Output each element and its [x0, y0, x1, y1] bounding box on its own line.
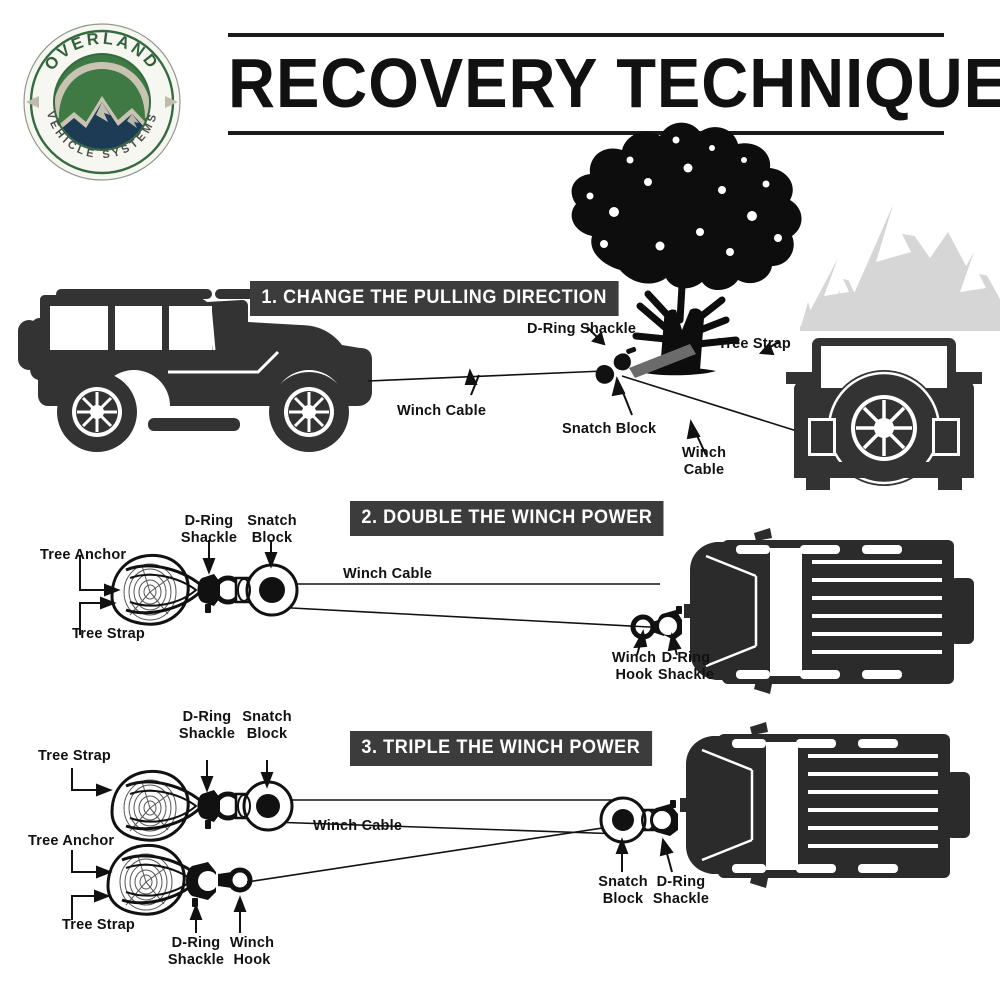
- label-d-ring-shackle-vehicle-s3: D-Ring Shackle: [650, 874, 712, 908]
- d-ring-shackle-upper-section-3: [198, 790, 241, 829]
- label-d-ring-shackle-lower-s3: D-Ring Shackle: [165, 935, 227, 969]
- jeep-rear-view: [786, 338, 982, 490]
- snatch-block-upper-section-3: [236, 782, 292, 830]
- label-tree-strap-s1: Tree Strap: [718, 336, 791, 353]
- label-winch-cable-left-s1: Winch Cable: [397, 403, 486, 420]
- d-ring-shackle-vehicle-section-2: [658, 606, 683, 640]
- label-snatch-block-vehicle-s3: Snatch Block: [596, 874, 650, 908]
- jeep-side-wheel-front: [269, 372, 349, 452]
- label-snatch-block-upper-s3: Snatch Block: [240, 709, 294, 743]
- label-d-ring-shackle-s2: D-Ring Shackle: [178, 513, 240, 547]
- tree-anchor-section-2: [112, 555, 204, 624]
- snatch-block-section-1: [596, 365, 614, 384]
- overland-vehicle-systems-logo: OVERLAND VEHICLE SYSTEMS: [22, 22, 182, 182]
- snatch-block-section-2: [236, 565, 297, 615]
- label-d-ring-shackle-upper-s3: D-Ring Shackle: [176, 709, 238, 743]
- jeep-top-view-section-3: [680, 722, 970, 888]
- mountain-range-background: [800, 205, 1000, 331]
- label-tree-strap-upper-s3: Tree Strap: [38, 748, 111, 765]
- label-tree-strap-lower-s3: Tree Strap: [62, 917, 135, 934]
- snatch-block-vehicle-section-3: [601, 798, 656, 842]
- label-tree-anchor-lower-s3: Tree Anchor: [28, 833, 114, 850]
- winch-cable-section-2: [273, 584, 668, 628]
- title-rule-bottom: [228, 131, 944, 135]
- section-banner-3: 3. TRIPLE THE WINCH POWER: [350, 731, 652, 766]
- d-ring-shackle-vehicle-section-3: [650, 800, 678, 836]
- label-d-ring-shackle-vehicle-s2: D-Ring Shackle: [655, 650, 717, 684]
- infographic-page: OVERLAND VEHICLE SYSTEMS RECOVERY TECHNI…: [0, 0, 1000, 1000]
- label-winch-hook-s2: Winch Hook: [608, 650, 660, 684]
- label-snatch-block-s1: Snatch Block: [562, 421, 656, 438]
- winch-hook-section-2: [633, 617, 670, 637]
- section-banner-1: 1. CHANGE THE PULLING DIRECTION: [250, 281, 618, 316]
- winch-hook-lower-section-3: [218, 870, 250, 890]
- tree-strap-section-1: [629, 344, 696, 378]
- label-tree-strap-s2: Tree Strap: [72, 626, 145, 643]
- d-ring-shackle-section-1: [614, 346, 637, 370]
- leader-arrows-section-3: [72, 760, 672, 933]
- label-winch-hook-lower-s3: Winch Hook: [226, 935, 278, 969]
- label-winch-cable-s2: Winch Cable: [343, 566, 432, 583]
- d-ring-shackle-section-2: [198, 574, 241, 613]
- section-banner-2: 2. DOUBLE THE WINCH POWER: [350, 501, 664, 536]
- title-block: RECOVERY TECHNIQUES: [228, 33, 944, 138]
- label-winch-cable-right-s1: Winch Cable: [674, 445, 734, 479]
- label-winch-cable-s3: Winch Cable: [313, 818, 402, 835]
- tree-anchor-upper-section-3: [112, 771, 204, 840]
- label-d-ring-shackle-s1: D-Ring Shackle: [527, 321, 636, 338]
- jeep-side-wheel-rear: [57, 372, 137, 452]
- tree-anchor-lower-section-3: [108, 845, 200, 914]
- d-ring-shackle-lower-section-3: [186, 862, 218, 907]
- label-snatch-block-s2: Snatch Block: [245, 513, 299, 547]
- page-title: RECOVERY TECHNIQUES: [228, 37, 894, 131]
- leader-arrows-section-2: [80, 540, 680, 655]
- label-tree-anchor-s2: Tree Anchor: [40, 547, 126, 564]
- jeep-top-view-section-2: [684, 528, 974, 694]
- winch-cable-section-3: [247, 800, 655, 882]
